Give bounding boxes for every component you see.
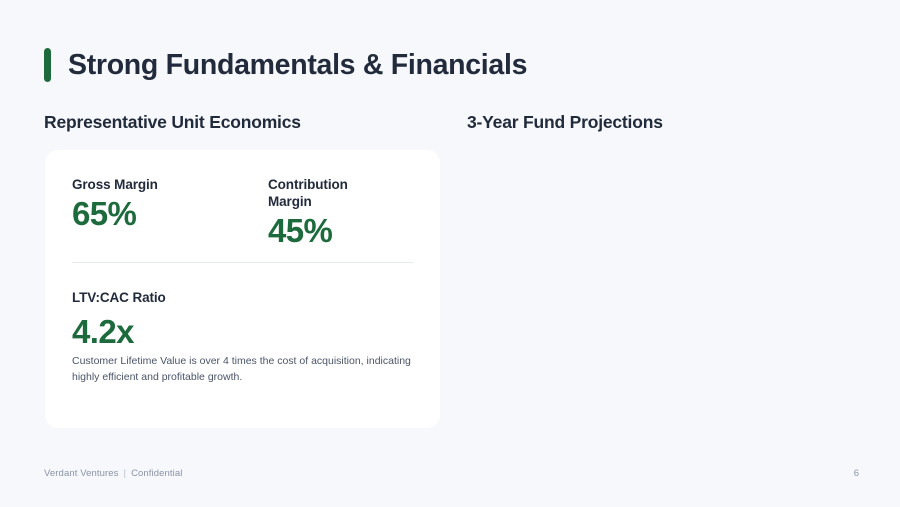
metric-label: Gross Margin bbox=[72, 177, 268, 194]
footer-classification: Confidential bbox=[131, 468, 182, 479]
page-title: Strong Fundamentals & Financials bbox=[68, 51, 527, 80]
ratio-value: 4.2x bbox=[72, 313, 417, 352]
ratio-description: Customer Lifetime Value is over 4 times … bbox=[72, 354, 412, 385]
metric-contribution-margin: Contribution Margin 45% bbox=[268, 177, 413, 250]
slide-title-row: Strong Fundamentals & Financials bbox=[44, 44, 527, 86]
footer: Verdant Ventures | Confidential bbox=[44, 468, 182, 479]
page-number: 6 bbox=[854, 468, 859, 479]
metric-label: Contribution Margin bbox=[268, 177, 378, 211]
title-accent-bar bbox=[44, 48, 51, 82]
slide-root: Strong Fundamentals & Financials Represe… bbox=[0, 0, 900, 507]
ratio-label: LTV:CAC Ratio bbox=[72, 290, 417, 306]
card-divider bbox=[72, 262, 413, 263]
unit-economics-card: Gross Margin 65% Contribution Margin 45%… bbox=[45, 150, 440, 428]
metric-grid: Gross Margin 65% Contribution Margin 45% bbox=[72, 177, 413, 250]
section-header-fund-projections: 3-Year Fund Projections bbox=[467, 114, 663, 132]
section-header-unit-economics: Representative Unit Economics bbox=[44, 114, 301, 132]
metric-value: 45% bbox=[268, 213, 413, 250]
footer-company: Verdant Ventures bbox=[44, 468, 119, 479]
metric-gross-margin: Gross Margin 65% bbox=[72, 177, 268, 250]
ltv-cac-block: LTV:CAC Ratio 4.2x Customer Lifetime Val… bbox=[72, 290, 417, 385]
footer-separator: | bbox=[124, 468, 127, 479]
fund-projections-panel bbox=[467, 150, 859, 428]
metric-value: 65% bbox=[72, 196, 268, 233]
